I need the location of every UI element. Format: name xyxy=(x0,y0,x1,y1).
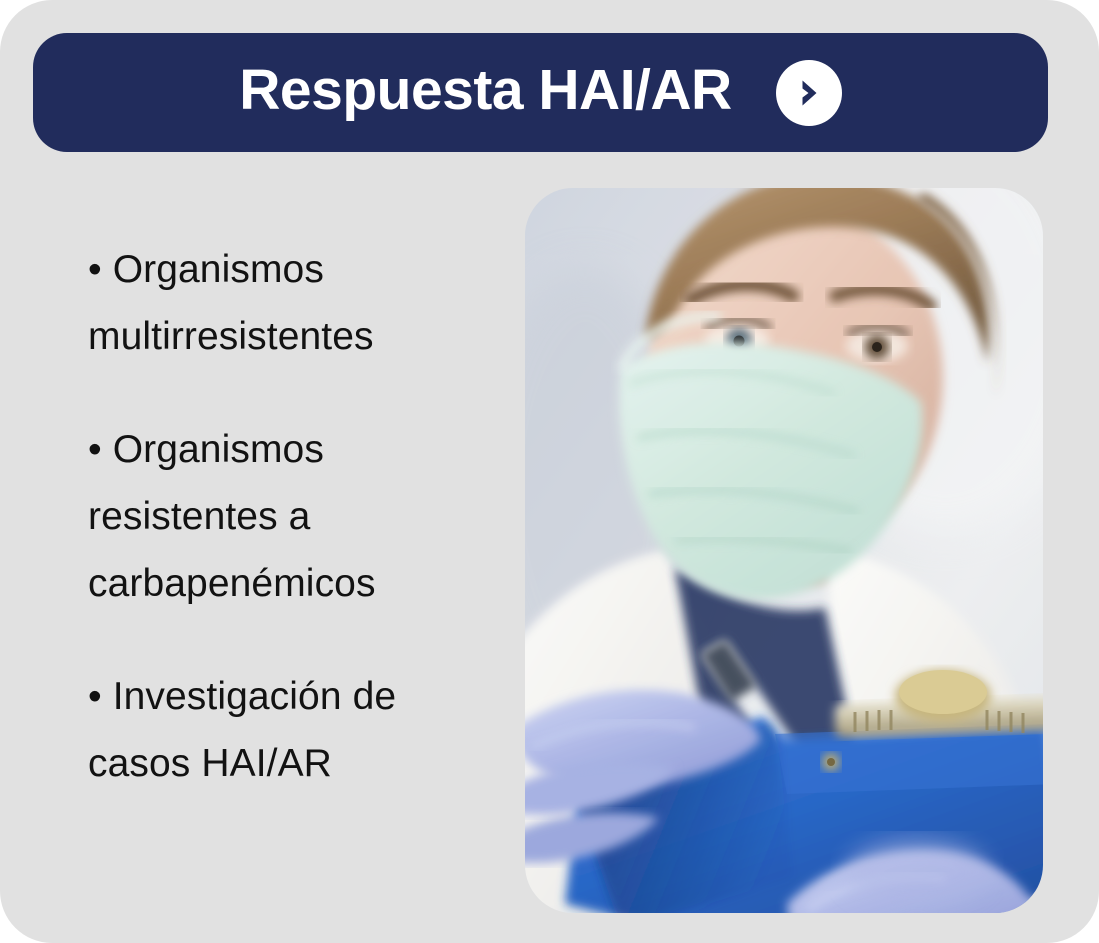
healthcare-worker-photo xyxy=(525,188,1043,913)
header-arrow-button[interactable] xyxy=(776,60,842,126)
chevron-right-circle-icon xyxy=(776,60,842,126)
header-banner: Respuesta HAI/AR xyxy=(33,33,1048,152)
list-item: • Investigación de casos HAI/AR xyxy=(88,663,488,797)
page-title: Respuesta HAI/AR xyxy=(239,62,731,119)
list-item: • Organismos resistentes a carbapenémico… xyxy=(88,416,488,617)
list-item: • Organismos multirresistentes xyxy=(88,236,488,370)
slide-card: Respuesta HAI/AR • Organismos multirresi… xyxy=(0,0,1099,943)
bullet-list: • Organismos multirresistentes • Organis… xyxy=(88,236,488,797)
